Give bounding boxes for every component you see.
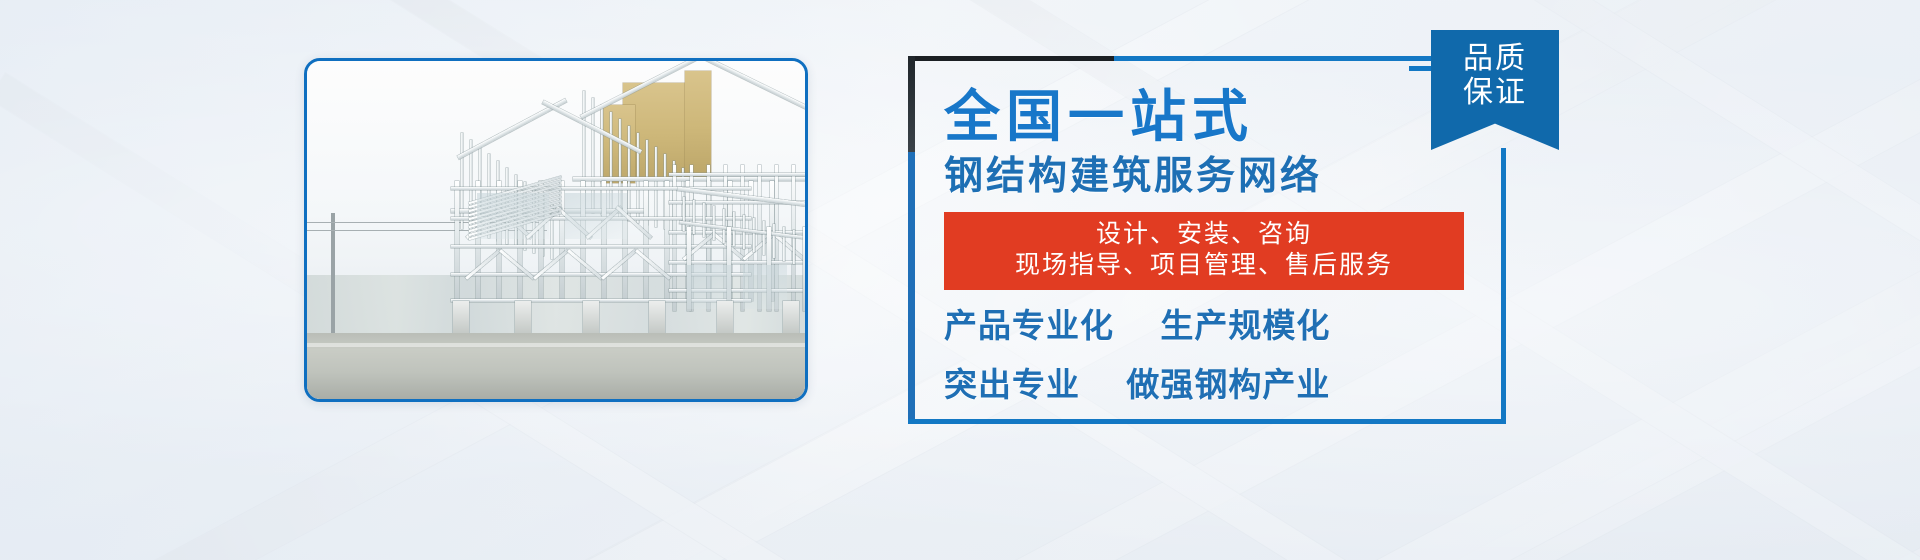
photo-footing [783,301,799,335]
promo-banner: 全国一站式 钢结构建筑服务网络 设计、安装、咨询 现场指导、项目管理、售后服务 … [0,0,1920,560]
photo-frame-member [565,193,627,239]
photo-steel-frame-house [387,69,805,337]
photo-frame-member [743,215,745,249]
photo-frame-member [763,221,765,255]
headline-primary: 全国一站式 [944,86,1472,148]
ribbon-line-2: 保证 [1431,76,1559,110]
photo-frame-member [743,265,787,309]
photo-footing [515,301,531,335]
services-line-1: 设计、安装、咨询 [954,219,1454,250]
photo-frame-member [753,218,755,252]
photo-frame-member [451,245,751,248]
photo-frame-member [783,227,785,261]
panel-frame-bottom [908,419,1506,424]
photo-frame-member [773,224,775,258]
photo-frame-member [683,197,685,231]
photo-frame-member [713,206,715,240]
photo-frame-member [665,181,669,301]
photo-ground-slab [307,333,805,399]
photo-footing [649,301,665,335]
services-highlight-box: 设计、安装、咨询 现场指导、项目管理、售后服务 [944,212,1464,290]
project-photo-card[interactable] [304,58,808,402]
slogan-row-1: 产品专业化 生产规模化 [944,302,1472,349]
message-panel: 全国一站式 钢结构建筑服务网络 设计、安装、咨询 现场指导、项目管理、售后服务 … [908,52,1506,424]
panel-frame-left-dark [908,56,915,152]
ribbon-tail [1409,66,1433,71]
project-photo [307,61,805,399]
photo-frame-member [703,203,705,237]
photo-frame-member [803,227,805,311]
photo-frame-member [644,181,648,301]
photo-frame-member [455,181,459,301]
panel-frame-right [1501,148,1506,424]
photo-frame-member [693,200,695,234]
photo-frame-member [477,193,549,239]
headline-secondary: 钢结构建筑服务网络 [944,154,1472,200]
photo-footing [453,301,469,335]
slogan-1-right: 生产规模化 [1160,307,1330,344]
services-line-2: 现场指导、项目管理、售后服务 [954,250,1454,281]
photo-power-pole [331,213,335,333]
slogan-2-right: 做强钢构产业 [1126,366,1330,403]
quality-guarantee-badge: 品质 保证 [1431,30,1559,150]
ribbon-line-1: 品质 [1431,42,1559,76]
photo-footing [717,301,733,335]
ribbon-label: 品质 保证 [1431,42,1559,110]
panel-content: 全国一站式 钢结构建筑服务网络 设计、安装、咨询 现场指导、项目管理、售后服务 … [944,72,1472,410]
photo-frame-member [628,126,630,221]
slogan-2-left: 突出专业 [944,366,1080,403]
slogan-row-2: 突出专业 做强钢构产业 [944,361,1472,408]
photo-frame-member [685,71,711,175]
slogan-1-left: 产品专业化 [944,307,1114,344]
photo-frame-member [669,173,805,176]
photo-frame-member [461,133,463,229]
photo-footing [583,301,599,335]
ribbon-body: 品质 保证 [1431,30,1559,150]
